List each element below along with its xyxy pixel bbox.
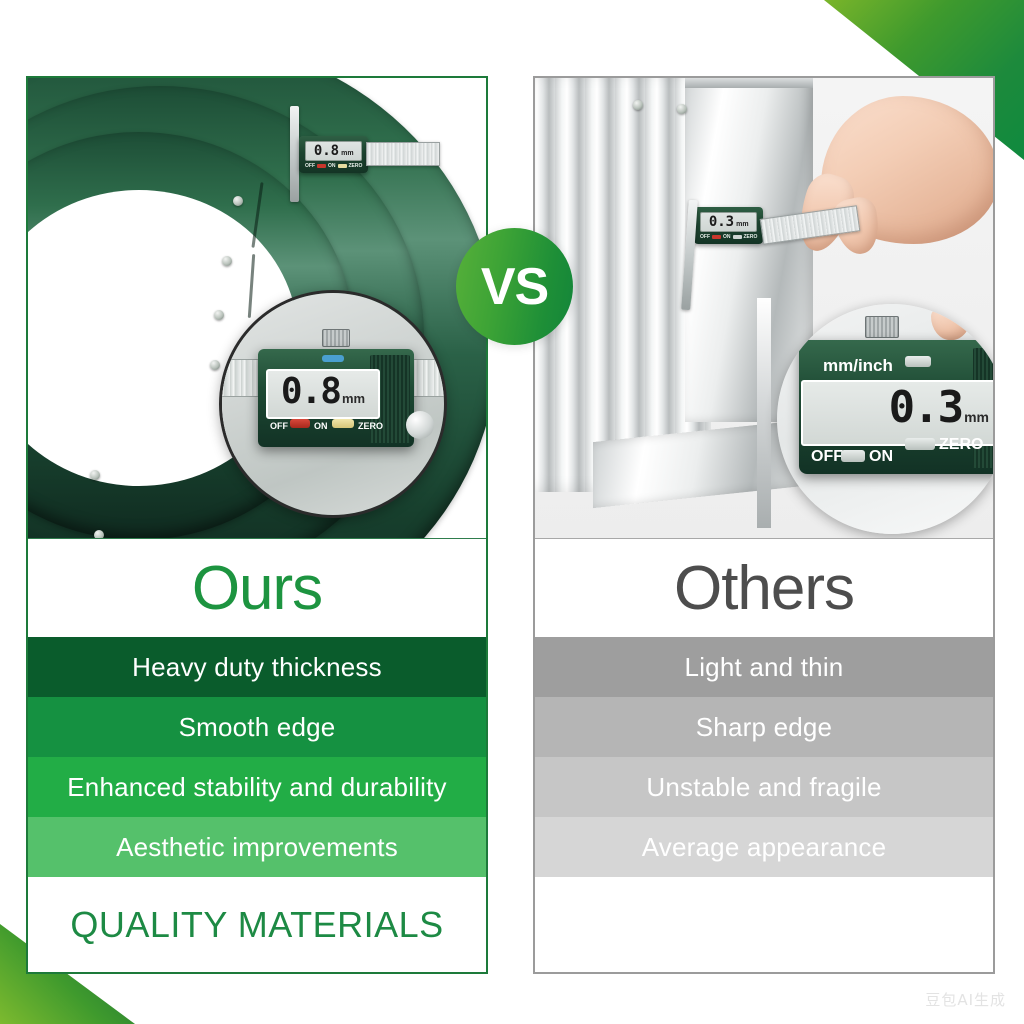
others-feature-row: Sharp edge [535, 697, 993, 757]
magnifier-off-label: OFF [270, 421, 288, 431]
digital-caliper: 0.3 mm OFF ON ZERO [685, 170, 859, 280]
others-magnifier-inset: mm/inch 0.3 mm OFF ON ZERO [777, 304, 993, 534]
others-feature-row: Light and thin [535, 637, 993, 697]
ours-feature-label: Smooth edge [179, 712, 336, 743]
others-product-photo: 0.3 mm OFF ON ZERO [535, 78, 993, 538]
others-feature-label: Sharp edge [696, 712, 832, 743]
ours-footer: QUALITY MATERIALS [28, 877, 486, 972]
others-feature-label: Light and thin [685, 652, 844, 683]
ours-product-photo: 0.8 mm OFF ON ZERO [28, 78, 486, 538]
magnifier-power-switch [290, 419, 310, 428]
caliper-off-label: OFF [305, 163, 315, 169]
caliper-body: 0.8 mm OFF ON ZERO [299, 136, 368, 173]
magnifier-power-switch [841, 450, 865, 462]
ours-feature-label: Aesthetic improvements [116, 832, 398, 863]
caliper-off-label: OFF [700, 234, 710, 240]
ours-feature-row: Enhanced stability and durability [28, 757, 486, 817]
caliper-zero-label: ZERO [744, 234, 758, 240]
vs-badge: VS [456, 228, 573, 345]
magnifier-thumbwheel [322, 329, 350, 347]
caliper-button-row: OFF ON ZERO [700, 234, 757, 240]
quality-materials-label: QUALITY MATERIALS [70, 904, 443, 946]
others-footer [535, 877, 993, 972]
ours-feature-row: Heavy duty thickness [28, 637, 486, 697]
magnifier-on-label: ON [314, 421, 328, 431]
caliper-zero-switch [733, 235, 742, 239]
magnifier-mode-label: mm/inch [823, 356, 893, 376]
magnifier-zero-label: ZERO [358, 421, 383, 431]
steel-top-lip [685, 78, 813, 88]
magnifier-zero-switch [905, 438, 935, 450]
bed-rivet [222, 256, 232, 266]
magnifier-thumbwheel [865, 316, 899, 338]
caliper-unit: mm [736, 221, 748, 228]
others-feature-label: Average appearance [642, 832, 887, 863]
ours-title: Ours [28, 538, 486, 637]
ours-feature-row: Aesthetic improvements [28, 817, 486, 877]
comparison-infographic: 0.8 mm OFF ON ZERO [0, 0, 1024, 1024]
magnifier-unit: mm [964, 409, 989, 425]
magnifier-roller-knob [406, 411, 434, 439]
ours-panel: 0.8 mm OFF ON ZERO [26, 76, 488, 974]
watermark: 豆包AI生成 [925, 989, 1006, 1010]
bed-rivet [90, 470, 100, 480]
magnifier-zero-switch [332, 419, 354, 428]
magnifier-zero-label: ZERO [939, 436, 983, 454]
caliper-body: 0.3 mm OFF ON ZERO [694, 207, 763, 244]
caliper-button-row: OFF ON ZERO [305, 163, 362, 169]
others-title: Others [535, 538, 993, 637]
caliper-power-switch [712, 235, 721, 239]
magnifier-mode-button [905, 356, 931, 367]
ours-feature-rows: Heavy duty thickness Smooth edge Enhance… [28, 637, 486, 877]
ours-magnifier-inset: 0.8 mm OFF ON ZERO [219, 290, 447, 518]
others-feature-row: Unstable and fragile [535, 757, 993, 817]
caliper-on-label: ON [328, 163, 336, 169]
bed-rivet [233, 196, 243, 206]
magnifier-value: 0.8 [281, 371, 340, 412]
caliper-zero-label: ZERO [349, 163, 363, 169]
magnifier-mode-indicator [322, 355, 344, 362]
steel-bolt [677, 104, 687, 114]
others-feature-rows: Light and thin Sharp edge Unstable and f… [535, 637, 993, 877]
others-panel: 0.3 mm OFF ON ZERO [533, 76, 995, 974]
caliper-display: 0.3 mm [700, 212, 757, 232]
ours-feature-row: Smooth edge [28, 697, 486, 757]
magnifier-on-label: ON [869, 448, 893, 466]
vs-label: VS [481, 261, 548, 313]
digital-caliper: 0.8 mm OFF ON ZERO [290, 106, 440, 202]
caliper-value: 0.8 [314, 143, 339, 159]
magnifier-unit: mm [342, 391, 365, 406]
bed-rivet [94, 530, 104, 538]
steel-vertical-edge [757, 298, 771, 528]
magnifier-display: 0.8 mm [266, 369, 380, 419]
ours-feature-label: Enhanced stability and durability [67, 772, 447, 803]
ours-feature-label: Heavy duty thickness [132, 652, 382, 683]
caliper-jaw [290, 106, 299, 202]
caliper-unit: mm [341, 150, 353, 157]
caliper-display: 0.8 mm [305, 141, 362, 161]
steel-bolt [633, 100, 643, 110]
caliper-power-switch [317, 164, 326, 168]
magnifier-value: 0.3 [889, 382, 962, 433]
bed-rivet [210, 360, 220, 370]
caliper-scale-bar [760, 205, 861, 244]
caliper-value: 0.3 [709, 214, 734, 230]
magnifier-off-label: OFF [811, 448, 843, 466]
caliper-scale-bar [366, 142, 440, 166]
others-feature-label: Unstable and fragile [646, 772, 881, 803]
caliper-zero-switch [338, 164, 347, 168]
caliper-on-label: ON [723, 234, 731, 240]
others-feature-row: Average appearance [535, 817, 993, 877]
